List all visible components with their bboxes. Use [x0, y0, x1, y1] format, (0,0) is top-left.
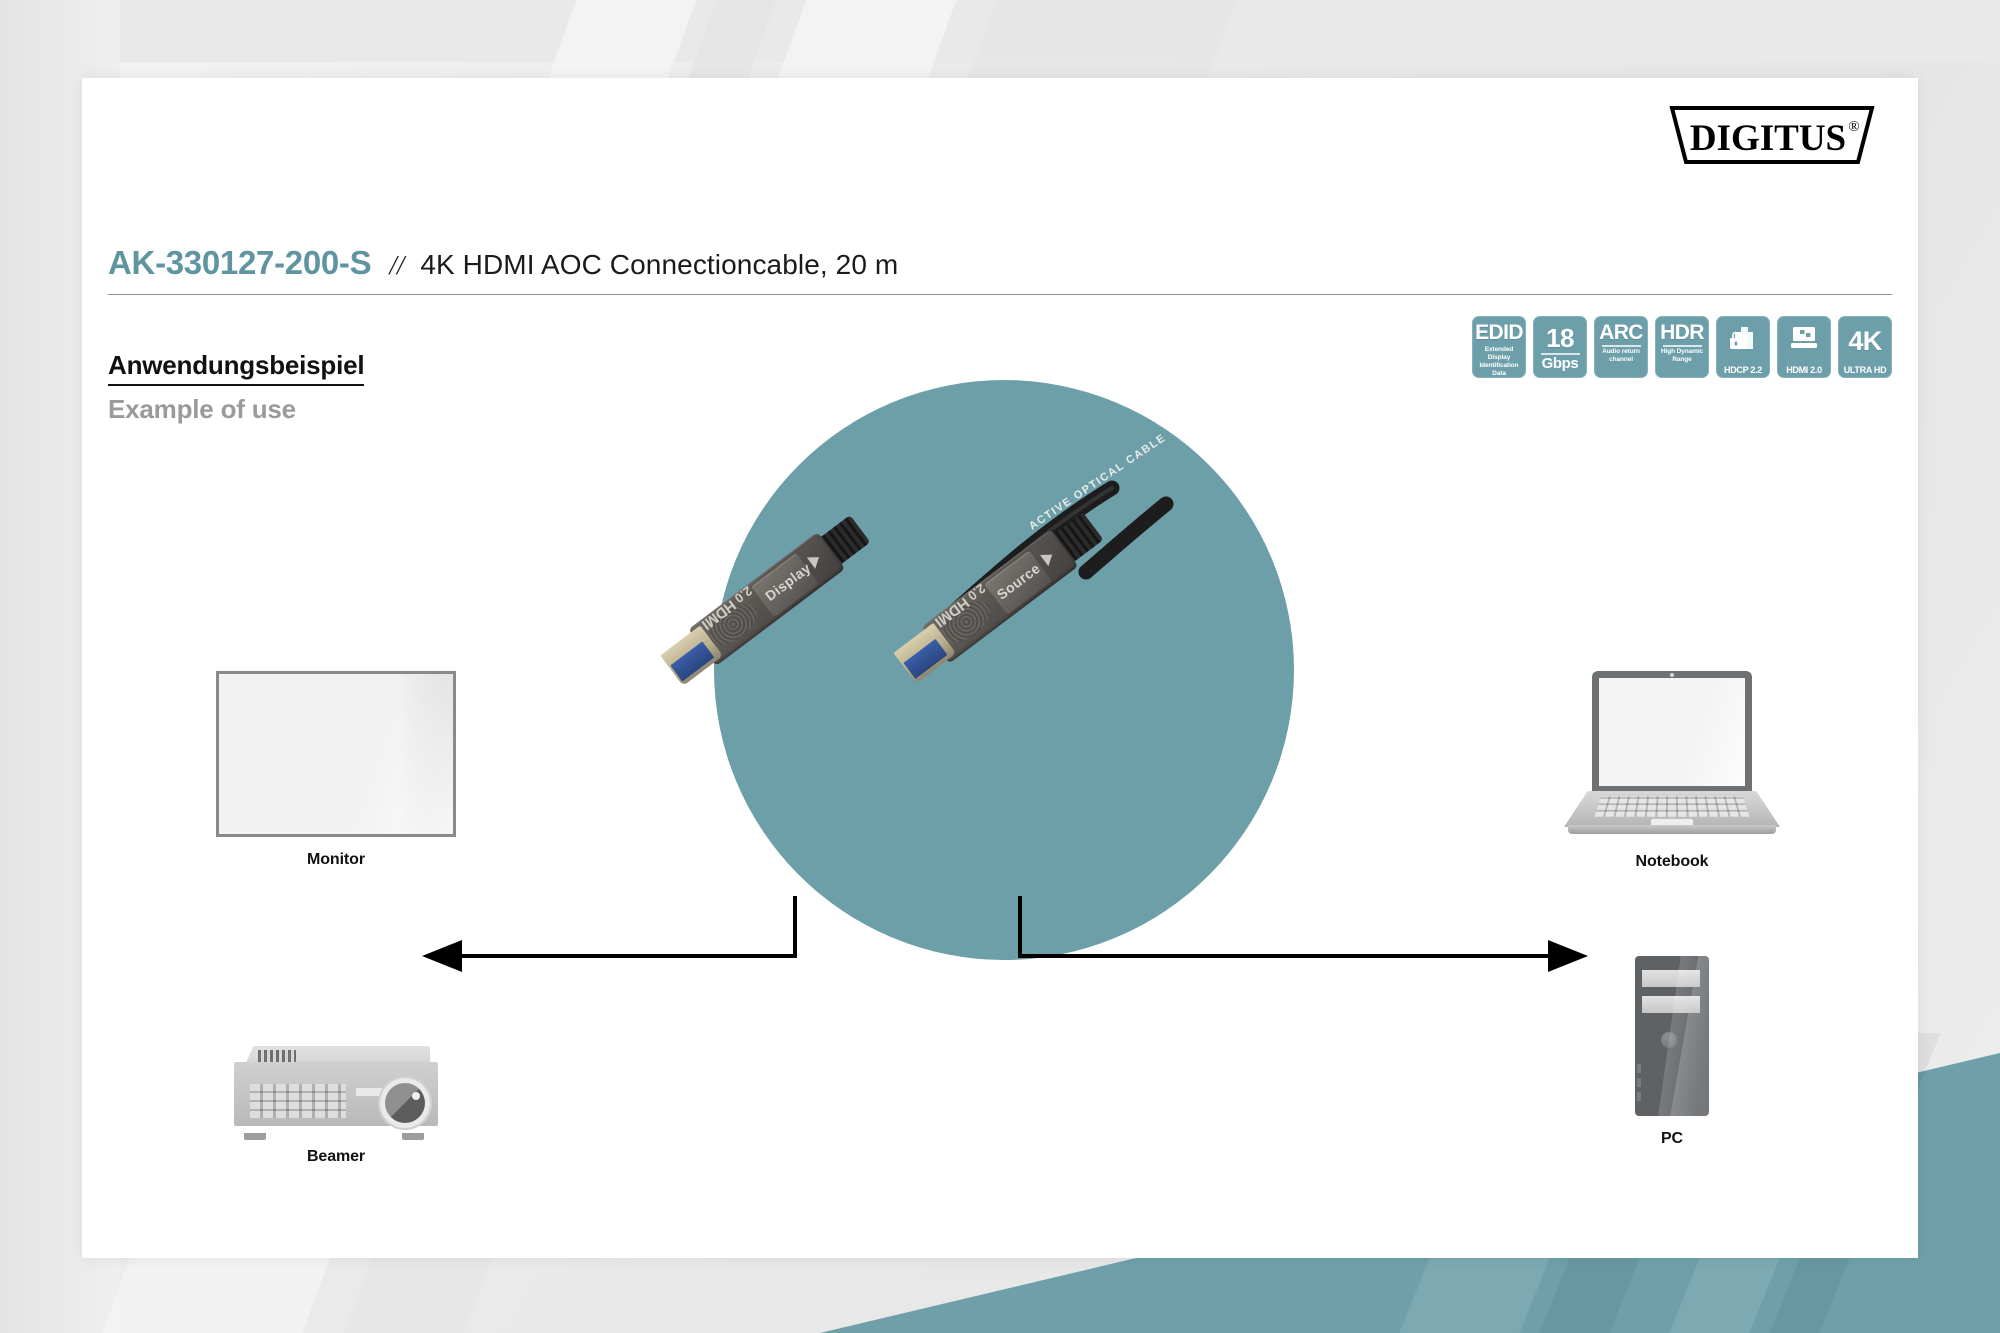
badge-edid-subtitle: Extended Display Identification Data — [1474, 346, 1524, 378]
digitus-logo: DIGITUS ® — [1668, 104, 1876, 166]
arrow-line-left — [462, 896, 795, 956]
display-shell — [688, 532, 845, 666]
source-plug — [893, 623, 956, 683]
registered-mark: ® — [1848, 119, 1859, 135]
display-texture — [703, 596, 764, 652]
projector-button-grid — [250, 1084, 346, 1118]
monitor-glare — [328, 671, 456, 837]
device-beamer: Beamer — [186, 1038, 486, 1166]
connector-source: Source HDMI 2.0 — [894, 540, 1234, 820]
pc-slot-1 — [1637, 1064, 1641, 1073]
badge-arc-rule — [1602, 345, 1641, 347]
hdmi-cable-photo: ACTIVE OPTICAL CABLE Display HDMI 2.0 — [714, 380, 1294, 960]
device-monitor: Monitor — [186, 671, 486, 869]
pc-drive-bay-2 — [1642, 996, 1700, 1013]
notebook-keyboard — [1594, 796, 1749, 816]
pc-slot-3 — [1637, 1092, 1641, 1101]
notebook-touchpad — [1651, 819, 1693, 827]
badge-hdr: HDR High Dynamic Range — [1655, 316, 1709, 378]
heading-english: Example of use — [108, 394, 364, 425]
badge-hdcp-label: HDCP 2.2 — [1716, 365, 1770, 375]
pc-slot-2 — [1637, 1078, 1641, 1087]
pc-tower-icon — [1635, 956, 1709, 1116]
badge-edid-title: EDID — [1475, 322, 1523, 343]
projector-lens-glint — [412, 1092, 420, 1100]
background-stripe-4 — [964, 0, 1237, 90]
projector-lens — [385, 1083, 425, 1123]
heading-german: Anwendungsbeispiel — [108, 350, 364, 386]
source-hdmi-label: HDMI — [931, 594, 972, 631]
article-number: AK-330127-200-S — [108, 244, 371, 282]
cord-print: ACTIVE OPTICAL CABLE — [1027, 432, 1168, 533]
badge-ultra-hd: 4K ULTRA HD — [1838, 316, 1892, 378]
optical-cord: ACTIVE OPTICAL CABLE — [714, 380, 1294, 960]
source-texture — [936, 594, 997, 650]
section-headings: Anwendungsbeispiel Example of use — [108, 350, 364, 425]
projector-top — [242, 1046, 430, 1072]
badge-ultra-hd-label: ULTRA HD — [1838, 365, 1892, 375]
source-plug-contact — [903, 639, 947, 679]
badge-hdr-subtitle: High Dynamic Range — [1657, 348, 1707, 364]
arrow-head-left — [422, 940, 462, 972]
badge-arc-subtitle: Audio return channel — [1596, 348, 1646, 364]
badge-edid: EDID Extended Display Identification Dat… — [1472, 316, 1526, 378]
notebook-icon — [1564, 671, 1780, 839]
badge-bandwidth-unit: Gbps — [1541, 356, 1580, 372]
device-notebook: Notebook — [1522, 671, 1822, 871]
badge-bandwidth: 18 Gbps — [1533, 316, 1587, 378]
title-divider — [108, 294, 1892, 295]
projector-foot-right — [402, 1133, 424, 1140]
notebook-label: Notebook — [1522, 853, 1822, 871]
display-strain-relief — [813, 515, 870, 570]
feature-badge-row: EDID Extended Display Identification Dat… — [1472, 316, 1892, 378]
badge-hdr-rule — [1663, 345, 1702, 347]
badge-hdr-title: HDR — [1660, 322, 1704, 343]
source-direction-arrow — [1040, 549, 1056, 566]
source-grip — [984, 551, 1052, 615]
source-version-label: 2.0 — [965, 581, 988, 604]
source-strain-relief — [1046, 513, 1103, 568]
badge-arc-title: ARC — [1599, 322, 1643, 343]
pc-drive-bay-1 — [1642, 970, 1700, 987]
display-version-label: 2.0 — [732, 583, 755, 606]
notebook-screen-glare — [1666, 678, 1745, 786]
lock-documents-icon — [1728, 324, 1758, 354]
badge-4k-title: 4K — [1848, 328, 1881, 355]
monitor-icon — [216, 671, 456, 837]
projector-icon — [228, 1038, 444, 1134]
display-role-label: Display — [762, 560, 814, 604]
monitor-icon — [1789, 324, 1819, 354]
notebook-lid — [1592, 671, 1752, 793]
badge-hdmi-label: HDMI 2.0 — [1777, 365, 1831, 375]
projector-lens-ring — [378, 1076, 432, 1130]
title-row: AK-330127-200-S // 4K HDMI AOC Connectio… — [108, 244, 1892, 295]
arrow-head-right — [1548, 940, 1588, 972]
arrow-line-right — [1020, 896, 1548, 956]
source-shell — [921, 529, 1078, 663]
projector-body — [234, 1062, 438, 1126]
logo-wordmark: DIGITUS — [1690, 118, 1846, 159]
badge-hdcp: HDCP 2.2 — [1716, 316, 1770, 378]
product-photo-circle — [714, 380, 1294, 960]
display-plug-contact — [670, 641, 714, 681]
notebook-webcam-icon — [1670, 673, 1674, 677]
pc-label: PC — [1522, 1130, 1822, 1148]
title-separator: // — [389, 250, 404, 281]
display-grip — [751, 553, 819, 617]
cord-upper — [947, 488, 1112, 618]
projector-strip — [356, 1088, 398, 1096]
notebook-screen — [1599, 678, 1745, 786]
cord-highlight — [947, 488, 1112, 618]
projector-foot-left — [244, 1133, 266, 1140]
monitor-shade — [399, 674, 453, 834]
source-role-label: Source — [994, 560, 1043, 603]
display-hdmi-label: HDMI — [698, 596, 739, 633]
beamer-label: Beamer — [186, 1148, 486, 1166]
monitor-label: Monitor — [186, 851, 486, 869]
device-pc: PC — [1522, 956, 1822, 1148]
pc-highlight — [1655, 956, 1709, 1116]
projector-vent — [258, 1050, 296, 1062]
notebook-base — [1564, 791, 1780, 827]
connector-display: Display HDMI 2.0 — [724, 530, 1024, 790]
display-plug — [660, 625, 723, 685]
badge-hdmi: HDMI 2.0 — [1777, 316, 1831, 378]
cord-lower — [1086, 504, 1166, 572]
badge-bandwidth-value: 18 — [1546, 325, 1574, 351]
product-title: 4K HDMI AOC Connectioncable, 20 m — [420, 249, 898, 281]
display-direction-arrow — [807, 552, 823, 569]
pc-power-button-icon — [1661, 1032, 1677, 1048]
badge-arc: ARC Audio return channel — [1594, 316, 1648, 378]
datasheet-card: DIGITUS ® AK-330127-200-S // 4K HDMI AOC… — [82, 78, 1918, 1258]
notebook-front-lip — [1568, 825, 1776, 834]
